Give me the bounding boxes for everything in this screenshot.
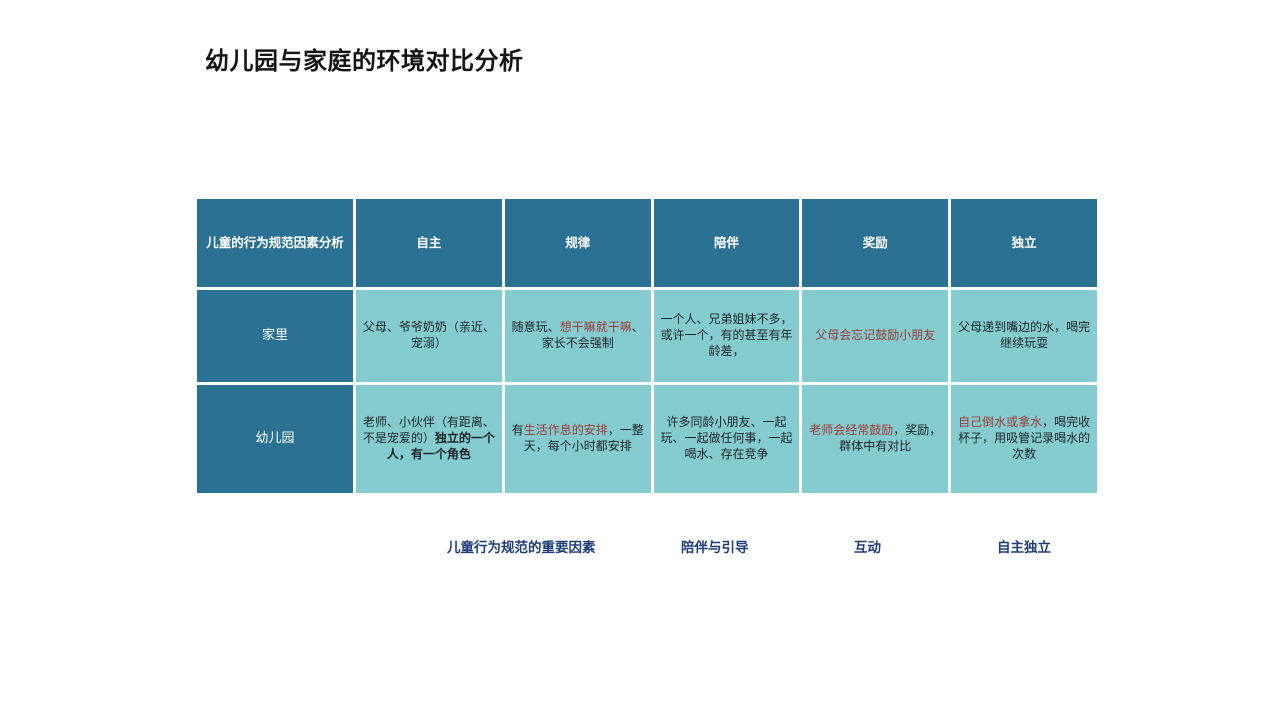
caption-independence: 自主独立 [997,536,1051,556]
column-header-reward: 奖励 [802,199,948,287]
table-row: 幼儿园 老师、小伙伴（有距离、不是宠爱的）独立的一个人，有一个角色 有生活作息的… [197,385,1097,493]
cell-text-segment: 生活作息的安排 [524,423,608,437]
cell-home-autonomy: 父母、爷爷奶奶（亲近、宠溺） [356,290,502,382]
table-header: 儿童的行为规范因素分析 自主 规律 陪伴 奖励 独立 [197,199,1097,287]
cell-home-company: 一个人、兄弟姐妹不多，或许一个，有的甚至有年龄差， [654,290,800,382]
cell-text-segment: 想干嘛就干嘛 [560,320,632,334]
comparison-table-container: 儿童的行为规范因素分析 自主 规律 陪伴 奖励 独立 家里 父母、爷爷奶奶（亲近… [197,199,1103,493]
caption-company-guide: 陪伴与引导 [681,536,749,556]
column-header-factor: 儿童的行为规范因素分析 [197,199,353,287]
cell-text-segment: 老师会经常鼓励 [809,423,893,437]
cell-text-segment: 父母、爷爷奶奶（亲近、宠溺） [363,320,495,350]
cell-text-segment: 自己倒水或拿水 [958,415,1042,429]
cell-kg-autonomy: 老师、小伙伴（有距离、不是宠爱的）独立的一个人，有一个角色 [356,385,502,493]
cell-text-segment: 许多同龄小朋友、一起玩、一起做任何事，一起喝水、存在竞争 [660,415,792,461]
cell-text-segment: 有 [512,423,524,437]
table-header-row: 儿童的行为规范因素分析 自主 规律 陪伴 奖励 独立 [197,199,1097,287]
row-label-kindergarten: 幼儿园 [197,385,353,493]
row-label-home: 家里 [197,290,353,382]
caption-key-factors: 儿童行为规范的重要因素 [447,536,596,556]
cell-text-segment: 一个人、兄弟姐妹不多，或许一个，有的甚至有年龄差， [660,312,792,358]
cell-text-segment: 父母会忘记鼓励小朋友 [815,328,935,342]
table-row: 家里 父母、爷爷奶奶（亲近、宠溺） 随意玩、想干嘛就干嘛、家长不会强制 一个人、… [197,290,1097,382]
table-body: 家里 父母、爷爷奶奶（亲近、宠溺） 随意玩、想干嘛就干嘛、家长不会强制 一个人、… [197,290,1097,493]
column-header-routine: 规律 [505,199,651,287]
column-header-autonomy: 自主 [356,199,502,287]
cell-kg-reward: 老师会经常鼓励，奖励，群体中有对比 [802,385,948,493]
cell-text-segment: 父母递到嘴边的水，喝完继续玩耍 [958,320,1090,350]
cell-kg-routine: 有生活作息的安排，一整天，每个小时都安排 [505,385,651,493]
environment-comparison-table: 儿童的行为规范因素分析 自主 规律 陪伴 奖励 独立 家里 父母、爷爷奶奶（亲近… [194,196,1100,496]
cell-kg-independence: 自己倒水或拿水，喝完收杯子，用吸管记录喝水的次数 [951,385,1097,493]
cell-home-independence: 父母递到嘴边的水，喝完继续玩耍 [951,290,1097,382]
cell-home-reward: 父母会忘记鼓励小朋友 [802,290,948,382]
cell-kg-company: 许多同龄小朋友、一起玩、一起做任何事，一起喝水、存在竞争 [654,385,800,493]
column-header-company: 陪伴 [654,199,800,287]
caption-strip: 儿童行为规范的重要因素 陪伴与引导 互动 自主独立 [197,536,1103,558]
column-header-independence: 独立 [951,199,1097,287]
cell-home-routine: 随意玩、想干嘛就干嘛、家长不会强制 [505,290,651,382]
page-title: 幼儿园与家庭的环境对比分析 [205,41,524,76]
cell-text-segment: 随意玩、 [512,320,560,334]
caption-interaction: 互动 [854,536,881,556]
